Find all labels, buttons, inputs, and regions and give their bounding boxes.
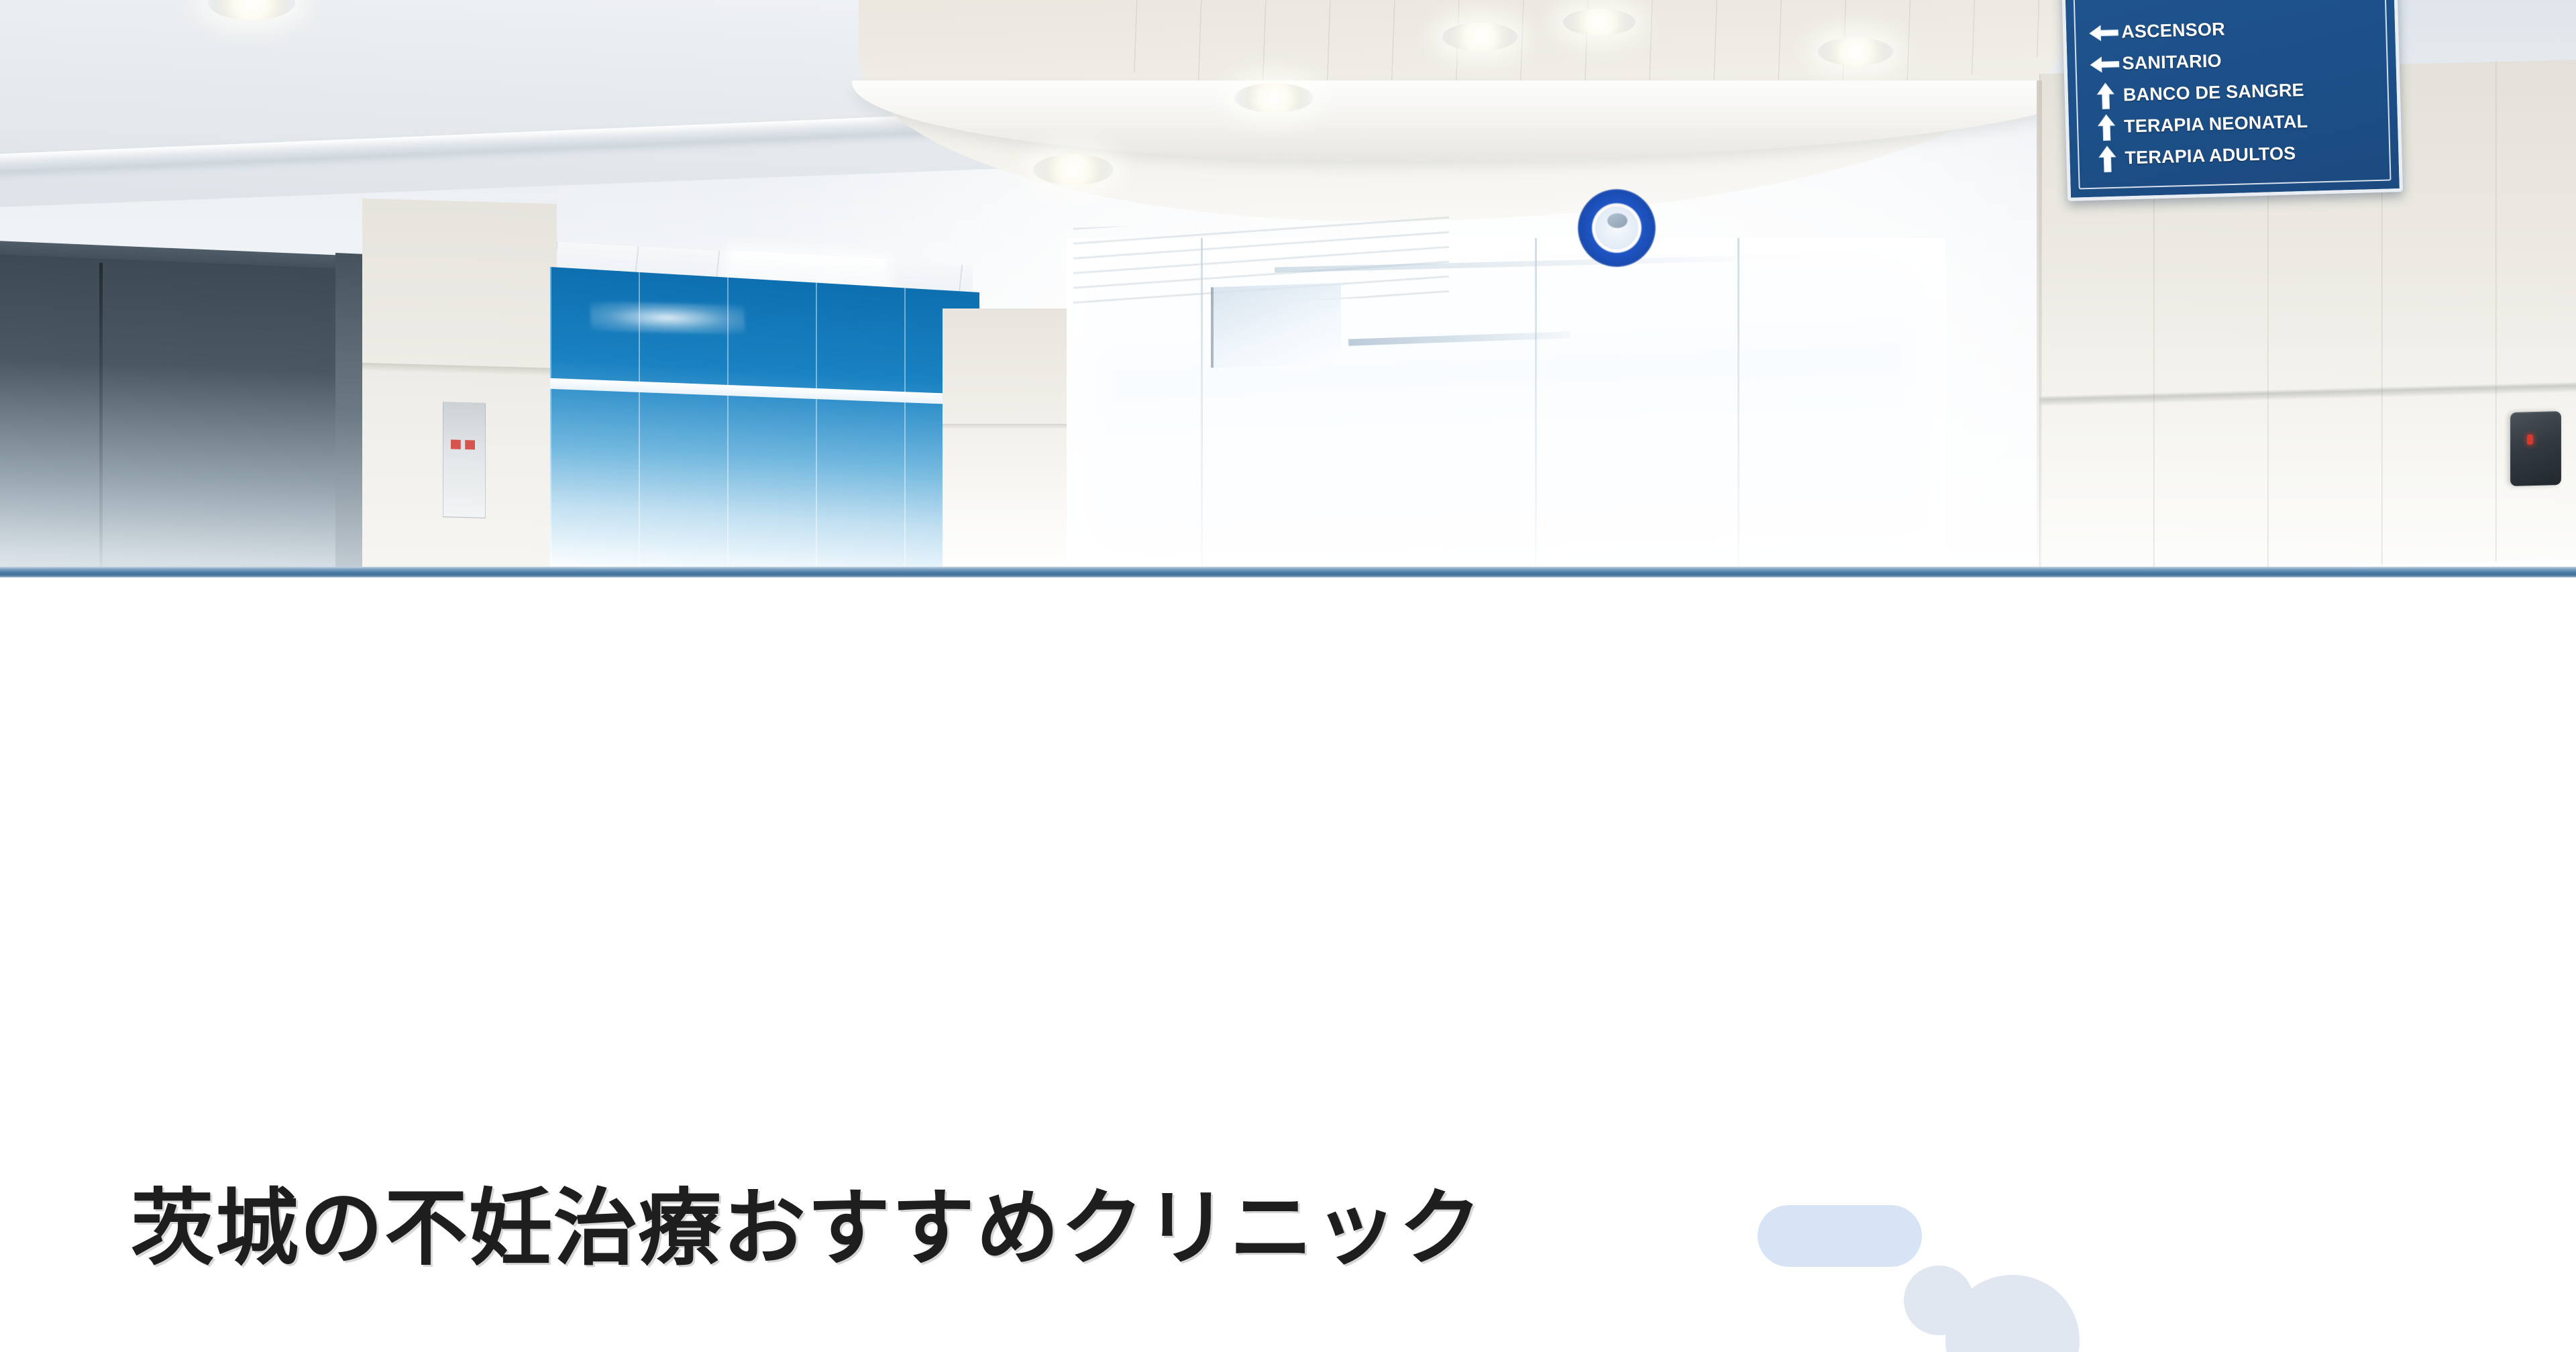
hospital-directional-sign: ASCENSOR SANITARIO [2061,0,2403,201]
elevator-indicator-icon [451,439,475,449]
sign-label: SANITARIO [2122,50,2222,74]
sign-label: TERAPIA NEONATAL [2124,111,2308,137]
stone-pillar [943,308,1070,569]
glass-mullion [1201,238,1203,569]
stone-wall-right-edge [2037,80,2042,569]
headline-panel: 茨城の不妊治療おすすめクリニック ©EggLink [0,577,2576,1352]
decor-pill-shape [1758,1205,1922,1267]
section-divider [0,567,2576,577]
hero-photo: ASCENSOR SANITARIO [0,0,2576,569]
downlight-icon [1033,154,1114,185]
arrow-up-icon [2089,113,2125,142]
arrow-up-icon [2088,81,2123,110]
downlight-icon [1442,23,1517,51]
sign-label: TERAPIA ADULTOS [2125,143,2296,168]
arrow-left-icon [2086,23,2122,42]
blue-emblem-mark [1607,213,1627,228]
sign-label: ASCENSOR [2121,19,2225,42]
glass-mullion [1737,238,1739,569]
arrow-left-icon [2087,55,2123,73]
glass-mullion [1535,238,1537,569]
sign-row-list: ASCENSOR SANITARIO [2086,9,2384,175]
card-reader [2510,411,2561,486]
page-title: 茨城の不妊治療おすすめクリニック [131,1180,1483,1278]
slide-canvas: ASCENSOR SANITARIO [0,0,2576,1352]
sign-label: BANCO DE SANGRE [2123,80,2304,106]
blue-wall-highlight [590,301,745,335]
arrow-up-icon [2090,144,2125,173]
elevator-doors [0,253,382,569]
bulkhead-seams [1073,0,2046,87]
downlight-icon [1234,83,1313,113]
elevator-door-split [99,263,103,569]
downlight-icon [1563,9,1635,36]
wall-monitor [1211,283,1341,368]
card-reader-led-icon [2527,435,2533,445]
elevator-call-panel [443,402,486,518]
downlight-icon [1818,38,1893,66]
